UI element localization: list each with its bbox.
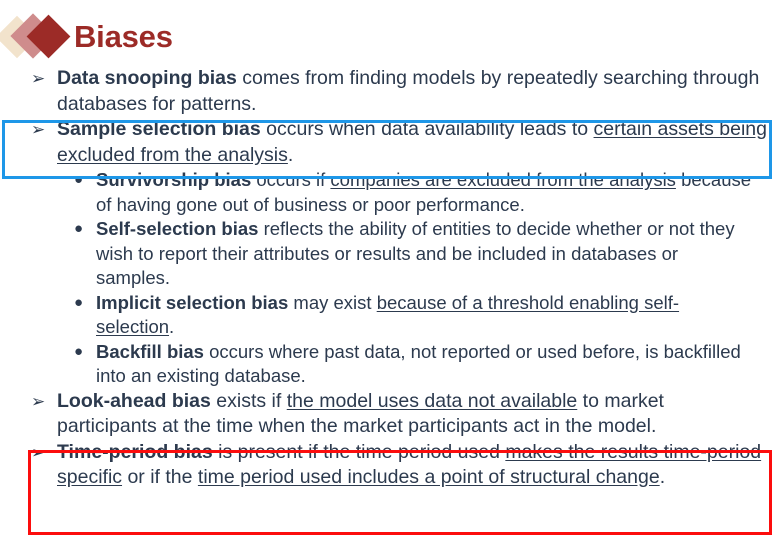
bullet-text-1: may exist <box>288 292 376 313</box>
bullet-self-selection-bias: ●Self-selection bias reflects the abilit… <box>0 217 776 291</box>
bullet-underline-1: the model uses data not available <box>287 390 578 412</box>
bullet-list: ➢Data snooping bias comes from finding m… <box>0 66 776 491</box>
dot-bullet-icon: ● <box>74 340 83 365</box>
bullet-term: Look-ahead bias <box>57 390 211 412</box>
bullet-term: Implicit selection bias <box>96 292 288 313</box>
three-diamonds-logo <box>0 13 72 59</box>
bullet-term: Data snooping bias <box>57 67 237 89</box>
bullet-text-2: . <box>169 316 174 337</box>
bullet-underline-1: companies are excluded from the analysis <box>330 169 676 190</box>
bullet-backfill-bias: ●Backfill bias occurs where past data, n… <box>0 340 776 389</box>
bullet-underline-2: time period used includes a point of str… <box>198 466 660 488</box>
dot-bullet-icon: ● <box>74 217 83 242</box>
bullet-text-1: occurs if <box>251 169 330 190</box>
bullet-term: Time-period bias <box>57 441 213 463</box>
bullet-survivorship-bias: ●Survivorship bias occurs if companies a… <box>0 168 776 217</box>
bullet-implicit-selection-bias: ●Implicit selection bias may exist becau… <box>0 291 776 340</box>
dot-bullet-icon: ● <box>74 291 83 316</box>
bullet-term: Sample selection bias <box>57 118 261 140</box>
bullet-term: Survivorship bias <box>96 169 251 190</box>
bullet-sample-selection-bias: ➢Sample selection bias occurs when data … <box>0 117 776 168</box>
bullet-text-3: . <box>660 466 665 488</box>
arrow-bullet-icon: ➢ <box>31 440 45 466</box>
arrow-bullet-icon: ➢ <box>31 66 45 92</box>
bullet-text-2: or if the <box>122 466 198 488</box>
slide-title-row: Biases <box>0 10 173 62</box>
bullet-text-2: . <box>288 144 293 166</box>
bullet-time-period-bias: ➢Time-period bias is present if the time… <box>0 440 776 491</box>
bullet-text-1: is present if the time period used <box>213 441 506 463</box>
bullet-look-ahead-bias: ➢Look-ahead bias exists if the model use… <box>0 389 776 440</box>
bullet-term: Backfill bias <box>96 341 204 362</box>
page-title: Biases <box>74 21 173 52</box>
bullet-term: Self-selection bias <box>96 218 258 239</box>
bullet-text-1: exists if <box>211 390 287 412</box>
dot-bullet-icon: ● <box>74 168 83 193</box>
arrow-bullet-icon: ➢ <box>31 389 45 415</box>
arrow-bullet-icon: ➢ <box>31 117 45 143</box>
bullet-text-1: occurs when data availability leads to <box>261 118 594 140</box>
bullet-data-snooping-bias: ➢Data snooping bias comes from finding m… <box>0 66 776 117</box>
